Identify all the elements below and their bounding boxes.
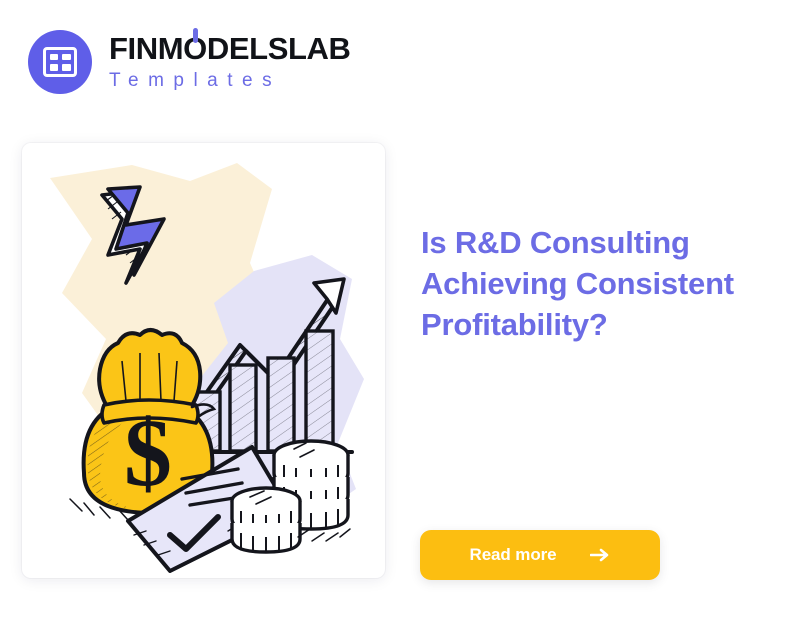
brand-wordmark: FINMODELSLAB xyxy=(109,33,350,64)
dollar-sign: $ xyxy=(124,399,172,506)
read-more-label: Read more xyxy=(470,545,557,565)
wordmark-o-power: O xyxy=(183,33,207,64)
grid-cell xyxy=(50,54,59,61)
brand-logo[interactable]: FINMODELSLAB Templates xyxy=(28,30,350,94)
brand-subtitle: Templates xyxy=(109,71,350,90)
grid-cell xyxy=(50,64,59,71)
power-bar-icon xyxy=(193,28,198,43)
grid-cell xyxy=(62,64,71,71)
wordmark-part1: FINM xyxy=(109,33,183,64)
grid-cell xyxy=(62,54,71,61)
finance-doodle-illustration: $ xyxy=(22,143,385,578)
brand-mark xyxy=(28,30,92,94)
read-more-button[interactable]: Read more xyxy=(420,530,660,580)
brand-text: FINMODELSLAB Templates xyxy=(109,33,350,92)
page-title: Is R&D Consulting Achieving Consistent P… xyxy=(421,222,761,346)
grid-2x2-icon xyxy=(43,47,77,77)
wordmark-part2: DELSLAB xyxy=(207,33,351,64)
illustration-card: $ xyxy=(22,143,385,578)
promo-banner: FINMODELSLAB Templates xyxy=(0,0,800,618)
arrow-right-icon xyxy=(590,548,610,562)
